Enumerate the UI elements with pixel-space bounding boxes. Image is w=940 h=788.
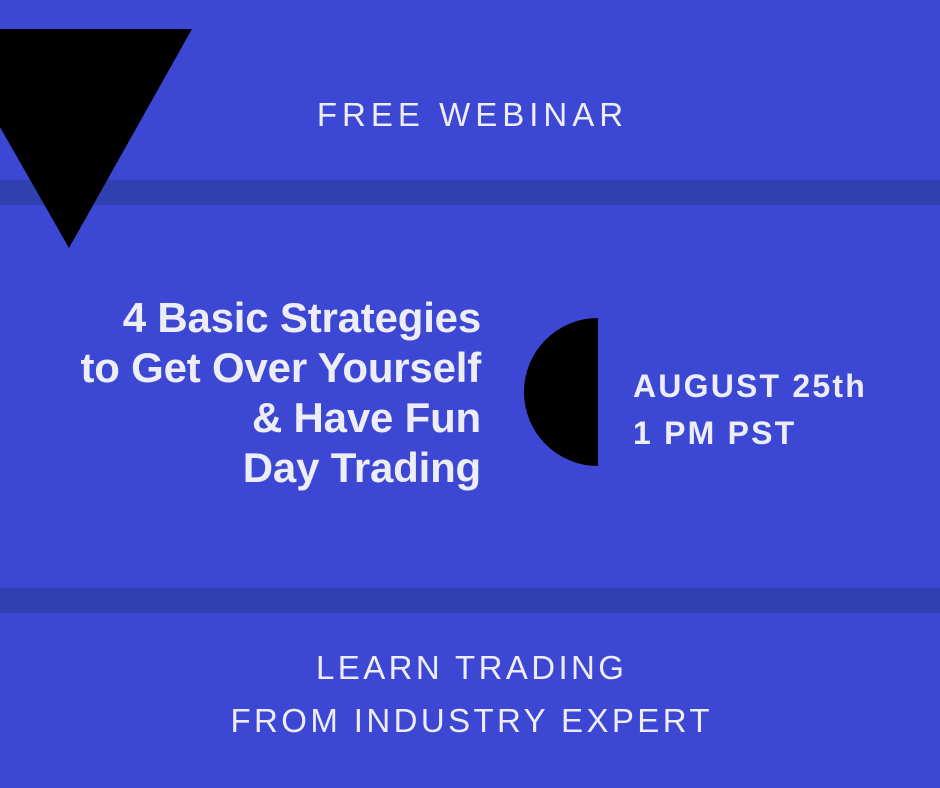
event-time: 1 PM PST (633, 410, 867, 457)
eyebrow-label: FREE WEBINAR (0, 97, 940, 133)
tagline: LEARN TRADING FROM INDUSTRY EXPERT (0, 641, 940, 747)
tagline-line-1: LEARN TRADING (0, 641, 940, 694)
half-circle-shape (524, 318, 598, 466)
headline: 4 Basic Strategies to Get Over Yourself … (0, 293, 481, 493)
webinar-promo-poster: FREE WEBINAR 4 Basic Strategies to Get O… (0, 0, 940, 788)
decorative-band-top (0, 180, 940, 205)
event-datetime: AUGUST 25th 1 PM PST (633, 363, 867, 457)
decorative-band-bottom (0, 588, 940, 613)
headline-line-2: to Get Over Yourself (0, 343, 481, 393)
headline-line-4: Day Trading (0, 443, 481, 493)
headline-line-1: 4 Basic Strategies (0, 293, 481, 343)
tagline-line-2: FROM INDUSTRY EXPERT (0, 694, 940, 747)
downward-triangle-shape (0, 29, 192, 248)
headline-line-3: & Have Fun (0, 393, 481, 443)
event-date: AUGUST 25th (633, 363, 867, 410)
